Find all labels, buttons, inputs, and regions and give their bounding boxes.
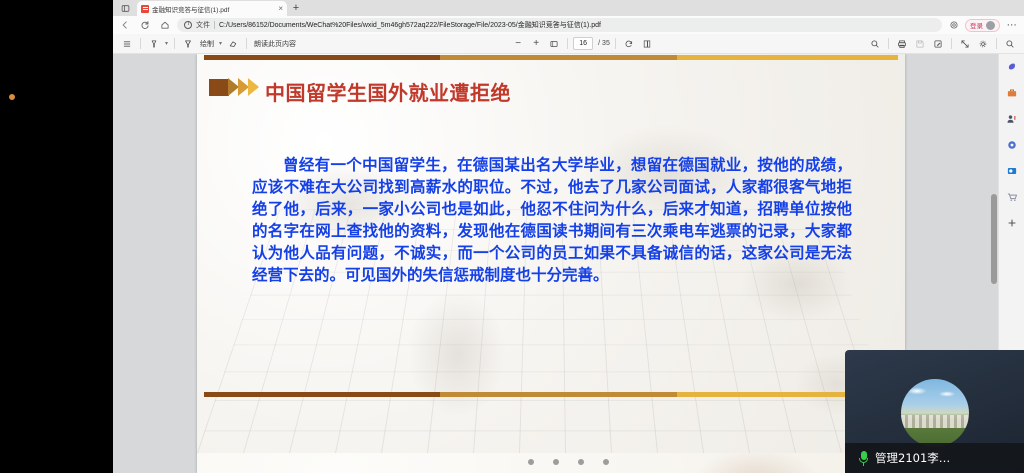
bottom-accent-band (204, 392, 898, 397)
back-arrow-icon[interactable] (117, 17, 133, 33)
contacts-icon[interactable] (1003, 110, 1020, 127)
divider (996, 38, 997, 49)
address-bar: 文件 C:/Users/86152/Documents/WeChat%20Fil… (113, 16, 1024, 34)
pagination-dot[interactable] (603, 459, 609, 465)
settings-icon[interactable] (1003, 136, 1020, 153)
save-icon[interactable] (912, 36, 928, 52)
avatar (986, 21, 995, 30)
microphone-icon[interactable] (859, 451, 868, 466)
find-icon[interactable] (1002, 36, 1018, 52)
home-icon[interactable] (157, 17, 173, 33)
zoom-in-button[interactable]: + (528, 36, 544, 52)
divider (567, 38, 568, 49)
title-chevron-decoration (209, 78, 259, 96)
outlook-icon[interactable] (1003, 162, 1020, 179)
search-icon[interactable] (867, 36, 883, 52)
new-tab-button[interactable]: + (287, 0, 305, 16)
scrollbar-thumb[interactable] (991, 194, 997, 284)
avatar (901, 379, 969, 447)
annotate-icon[interactable] (930, 36, 946, 52)
status-dot (9, 94, 15, 100)
gear-icon[interactable] (975, 36, 991, 52)
add-icon[interactable] (1003, 214, 1020, 231)
sign-in-button[interactable]: 登录 (965, 19, 1000, 32)
pagination-dot[interactable] (528, 459, 534, 465)
top-accent-band (204, 55, 898, 60)
divider (140, 38, 141, 49)
divider (888, 38, 889, 49)
pagination-dot[interactable] (578, 459, 584, 465)
url-text: C:/Users/86152/Documents/WeChat%20Files/… (219, 20, 935, 30)
browser-tab[interactable]: 金融知识竞答与征信(1).pdf × (137, 1, 287, 16)
copilot-icon[interactable] (1003, 58, 1020, 75)
url-scheme-label: 文件 (196, 20, 210, 30)
screen-root: 金融知识竞答与征信(1).pdf × + 文件 C:/Users/86152/D… (0, 0, 1024, 473)
tab-search-icon[interactable] (113, 0, 137, 16)
slide-title: 中国留学生国外就业遭拒绝 (265, 77, 511, 106)
divider (951, 38, 952, 49)
fit-page-icon[interactable] (546, 36, 562, 52)
page-current: 16 (579, 40, 587, 47)
avatar-sky-detail (901, 385, 969, 399)
draw-pen-icon[interactable] (180, 36, 196, 52)
fullscreen-icon[interactable] (957, 36, 973, 52)
pdf-page-current: 中国留学生国外就业遭拒绝 曾经有一个中国留学生，在德国某出名大学毕业，想留在德国… (197, 54, 905, 473)
desktop-background (0, 0, 113, 473)
highlight-pen-icon[interactable] (146, 36, 162, 52)
close-icon[interactable]: × (278, 5, 283, 13)
reload-icon[interactable] (137, 17, 153, 33)
table-of-contents-icon[interactable] (119, 36, 135, 52)
rotate-icon[interactable] (621, 36, 637, 52)
divider (214, 21, 215, 29)
page-layout-icon[interactable] (639, 36, 655, 52)
page-total: / 35 (595, 40, 610, 47)
shopping-icon[interactable] (1003, 84, 1020, 101)
chevron-down-icon[interactable]: ▾ (218, 40, 223, 47)
zoom-out-button[interactable]: − (510, 36, 526, 52)
pdf-file-icon (141, 5, 149, 13)
eraser-icon[interactable] (225, 36, 241, 52)
cart-icon[interactable] (1003, 188, 1020, 205)
read-aloud-label[interactable]: 朗读此页内容 (252, 39, 298, 49)
browser-menu-button[interactable]: ⋯ (1004, 18, 1020, 33)
page-number-input[interactable]: 16 (573, 37, 593, 50)
chevron-down-icon[interactable]: ▾ (164, 40, 169, 47)
divider (174, 38, 175, 49)
slide-body-text: 曾经有一个中国留学生，在德国某出名大学毕业，想留在德国就业，按他的成绩，应该不难… (252, 154, 852, 286)
divider (615, 38, 616, 49)
collections-icon[interactable] (946, 18, 961, 33)
participant-footer: 管理2101李… (845, 443, 1024, 473)
participant-name: 管理2101李… (875, 450, 950, 466)
draw-label[interactable]: 绘制 (198, 39, 216, 49)
pagination-dot[interactable] (553, 459, 559, 465)
url-bar[interactable]: 文件 C:/Users/86152/Documents/WeChat%20Fil… (177, 18, 942, 32)
print-icon[interactable] (894, 36, 910, 52)
slide-canvas: 中国留学生国外就业遭拒绝 曾经有一个中国留学生，在德国某出名大学毕业，想留在德国… (197, 54, 905, 453)
pdf-toolbar: ▾ 绘制 ▾ 朗读此页内容 − + 16 / 35 (113, 34, 1024, 54)
tab-strip: 金融知识竞答与征信(1).pdf × + (113, 0, 1024, 16)
info-circle-icon[interactable] (184, 21, 192, 29)
sign-in-label: 登录 (970, 20, 983, 30)
divider (246, 38, 247, 49)
tab-title: 金融知识竞答与征信(1).pdf (152, 4, 275, 14)
avatar-herd-detail (901, 415, 969, 428)
video-participant-tile[interactable]: 管理2101李… (845, 350, 1024, 473)
